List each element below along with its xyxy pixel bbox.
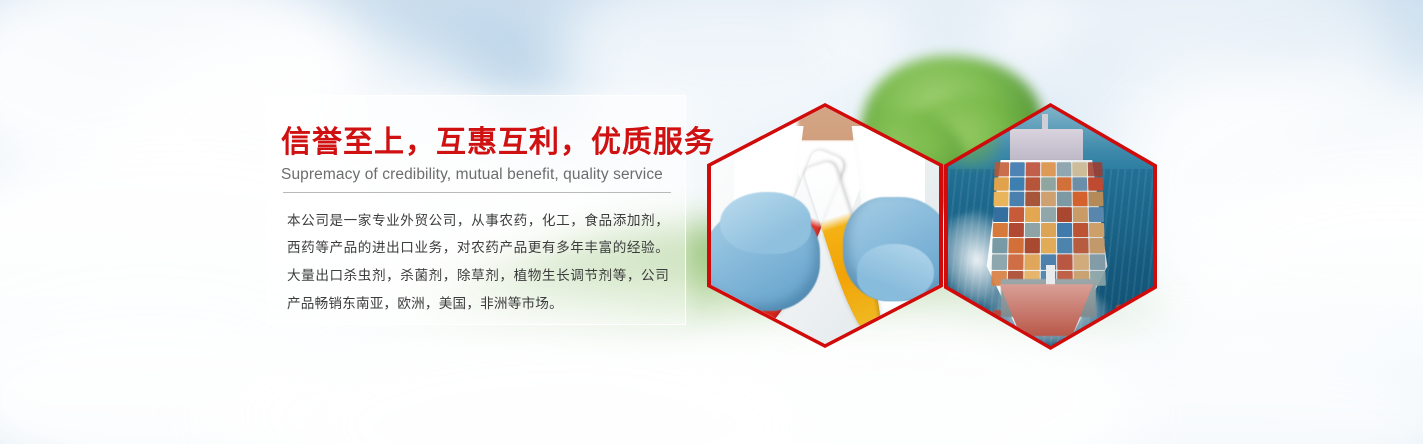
shipping-container <box>1024 254 1039 269</box>
shipping-container <box>1026 162 1041 176</box>
shipping-container <box>1041 192 1056 206</box>
shipping-container <box>1057 177 1072 191</box>
shipping-container <box>1010 162 1025 176</box>
blue-glove-right-fingers <box>857 244 935 301</box>
shipping-container <box>992 254 1008 269</box>
shipping-container <box>994 177 1009 191</box>
small-boat <box>993 310 1001 317</box>
shipping-container <box>1008 238 1023 253</box>
promotional-banner: 信誉至上，互惠互利，优质服务 Supremacy of credibility,… <box>0 0 1423 444</box>
shipping-container <box>994 162 1009 176</box>
shipping-container <box>1025 238 1040 253</box>
shipping-container <box>1057 162 1072 176</box>
shipping-container <box>1041 207 1056 221</box>
shipping-container <box>1009 207 1024 221</box>
shipping-container <box>1041 177 1056 191</box>
shipping-container <box>1041 162 1056 176</box>
shipping-container <box>1089 238 1105 253</box>
shipping-container <box>1089 222 1104 237</box>
shipping-container <box>994 192 1009 206</box>
shipping-container <box>1088 177 1103 191</box>
headline-slogan: 信誉至上，互惠互利，优质服务 <box>281 126 673 161</box>
shipping-container <box>1073 222 1088 237</box>
shipping-container <box>1089 254 1105 269</box>
shipping-container <box>1057 207 1072 221</box>
shipping-container <box>1041 238 1056 253</box>
shipping-container <box>1088 162 1103 176</box>
shipping-container <box>1010 177 1025 191</box>
shipping-container <box>1025 222 1040 237</box>
subtitle-slogan: Supremacy of credibility, mutual benefit… <box>281 166 673 184</box>
shipping-container <box>1072 192 1087 206</box>
shipping-container <box>1041 222 1056 237</box>
shipping-container <box>1057 254 1072 269</box>
panel-divider <box>283 192 671 193</box>
shipping-container <box>993 222 1008 237</box>
shipping-container <box>992 238 1008 253</box>
shipping-container <box>993 207 1008 221</box>
shipping-container <box>1057 222 1072 237</box>
shipping-container <box>1025 192 1040 206</box>
shipping-container <box>1073 207 1088 221</box>
shipping-container <box>1009 222 1024 237</box>
shipping-container <box>1072 162 1087 176</box>
blue-glove-left-fingers <box>720 192 811 254</box>
shipping-container <box>1008 254 1024 269</box>
shipping-container <box>1025 207 1040 221</box>
shipping-container <box>1072 177 1087 191</box>
shipping-container <box>1073 238 1088 253</box>
shipping-container <box>1009 192 1024 206</box>
shipping-container <box>1057 192 1072 206</box>
shipping-container <box>1025 177 1040 191</box>
shipping-container <box>1073 254 1089 269</box>
shipping-container <box>1088 192 1103 206</box>
shipping-container <box>1088 207 1103 221</box>
shipping-container <box>1057 238 1072 253</box>
slogan-panel: 信誉至上，互惠互利，优质服务 Supremacy of credibility,… <box>266 95 686 325</box>
company-description: 本公司是一家专业外贸公司，从事农药，化工，食品添加剂，西药等产品的进出口业务，对… <box>287 207 669 318</box>
